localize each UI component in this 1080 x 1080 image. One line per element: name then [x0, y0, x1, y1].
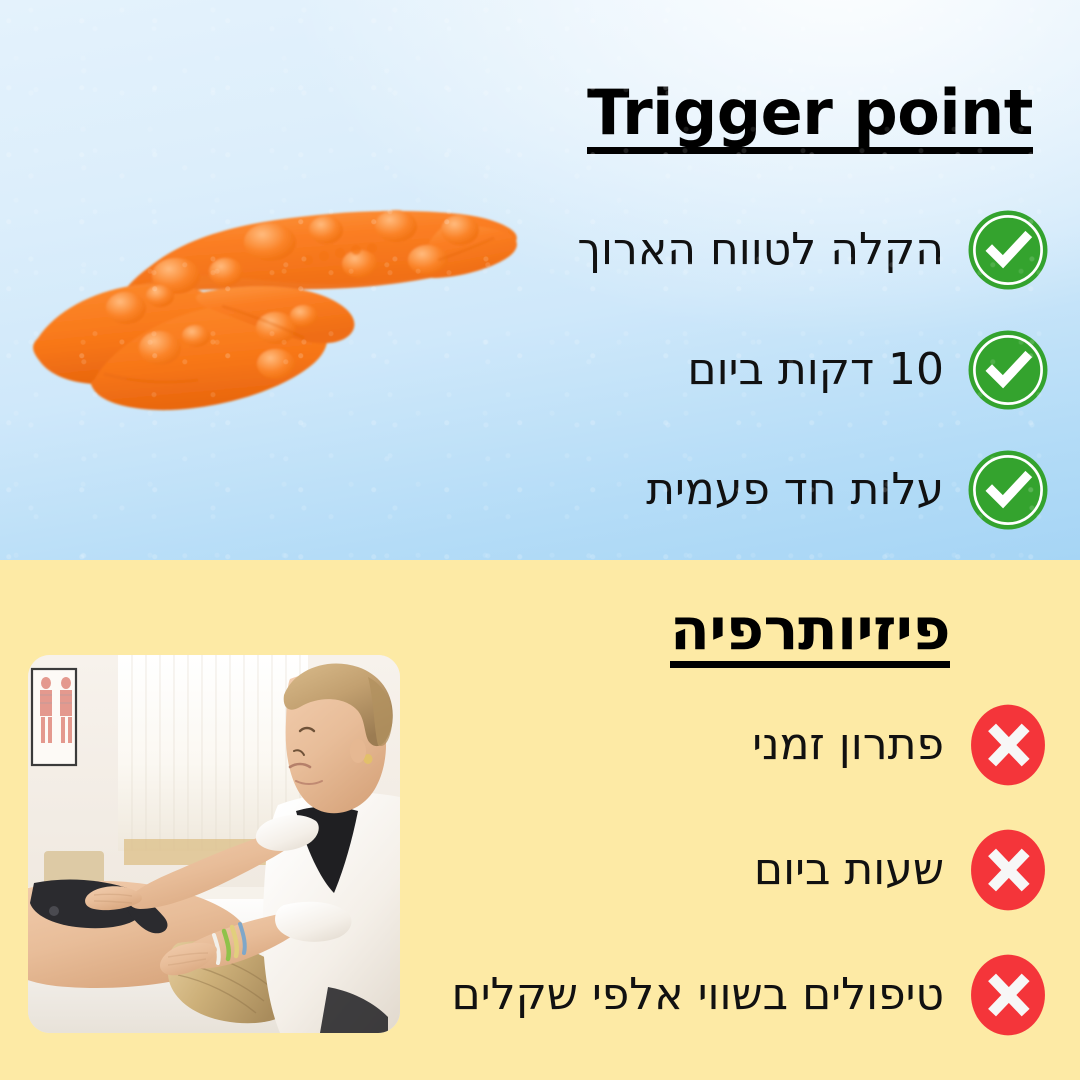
bottom-section-title: פיזיותרפיה: [560, 600, 1060, 668]
comparison-poster: Trigger point הקלה לטווח הארוך: [0, 0, 1080, 1080]
red-cross-circle-icon: [966, 953, 1050, 1037]
top-section-title: Trigger point: [560, 82, 1060, 154]
list-item-label: שעות ביום: [754, 845, 944, 896]
list-item: טיפולים בשווי אלפי שקלים: [280, 950, 1050, 1040]
green-check-circle-icon: [966, 448, 1050, 532]
list-item: שעות ביום: [280, 825, 1050, 915]
green-check-circle-icon: [966, 328, 1050, 412]
list-item: הקלה לטווח הארוך: [360, 205, 1050, 295]
list-item: 10 דקות ביום: [360, 325, 1050, 415]
green-check-circle-icon: [966, 208, 1050, 292]
list-item-label: עלות חד פעמית: [646, 465, 944, 516]
list-item-label: הקלה לטווח הארוך: [577, 225, 944, 276]
red-cross-circle-icon: [966, 703, 1050, 787]
list-item-label: פתרון זמני: [752, 720, 944, 771]
list-item-label: טיפולים בשווי אלפי שקלים: [452, 970, 944, 1021]
list-item: עלות חד פעמית: [360, 445, 1050, 535]
physiotherapy-drawback-list: פתרון זמני שעות ביום טיפולים בשווי אלפי …: [280, 700, 1050, 1075]
top-section-title-text: Trigger point: [587, 82, 1033, 154]
trigger-point-section: Trigger point הקלה לטווח הארוך: [0, 0, 1080, 560]
red-cross-circle-icon: [966, 828, 1050, 912]
trigger-point-benefit-list: הקלה לטווח הארוך 10 דקות ביום: [360, 205, 1050, 560]
bottom-section-title-text: פיזיותרפיה: [670, 600, 950, 668]
list-item-label: 10 דקות ביום: [687, 345, 944, 396]
list-item: פתרון זמני: [280, 700, 1050, 790]
